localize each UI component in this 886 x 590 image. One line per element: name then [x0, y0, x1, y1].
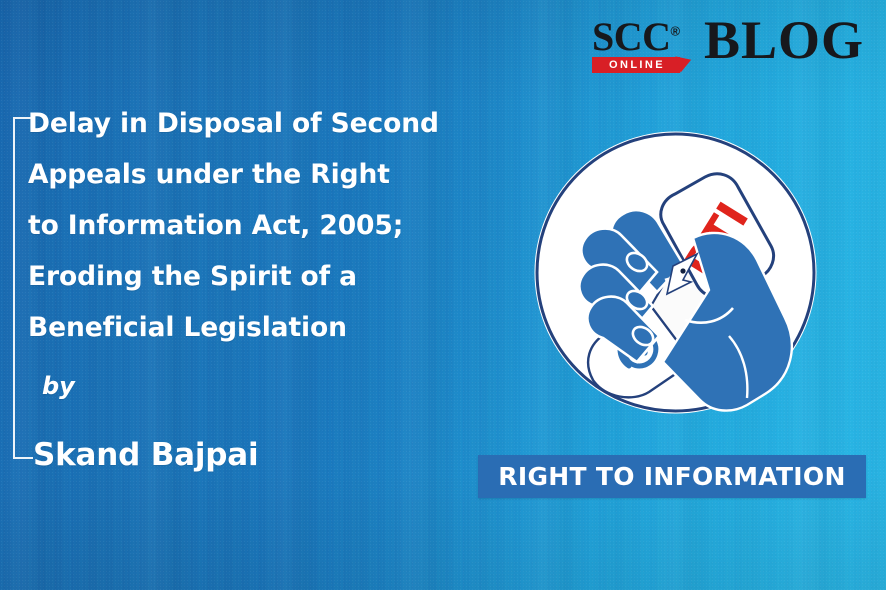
category-badge[interactable]: RIGHT TO INFORMATION [478, 455, 866, 498]
category-label: RIGHT TO INFORMATION [498, 462, 845, 491]
swoosh-icon [675, 52, 694, 72]
scc-brand-label: SCC [592, 14, 671, 59]
title-line-1: Delay in Disposal of Second [28, 98, 478, 149]
rti-emblem: RTI [533, 130, 818, 415]
online-label: ONLINE [607, 60, 665, 71]
scc-brand-text: SCC® [592, 18, 688, 56]
title-line-4: Eroding the Spirit of a [28, 251, 478, 302]
author-name: Skand Bajpai [33, 437, 258, 473]
detail-dot-icon [680, 268, 685, 273]
page-title: Delay in Disposal of Second Appeals unde… [28, 98, 478, 353]
blog-label: BLOG [704, 16, 864, 64]
blog-banner-poster: SCC® ONLINE BLOG Delay in Disposal of Se… [0, 0, 886, 590]
byline-prefix: by [42, 372, 75, 400]
scc-online-blog-logo[interactable]: SCC® ONLINE BLOG [592, 18, 864, 73]
title-line-5: Beneficial Legislation [28, 302, 478, 353]
title-line-3: to Information Act, 2005; [28, 200, 478, 251]
scc-online-mark: SCC® ONLINE [592, 18, 688, 73]
title-line-2: Appeals under the Right [28, 149, 478, 200]
online-banner: ONLINE [592, 57, 680, 73]
registered-trademark-icon: ® [671, 24, 680, 39]
